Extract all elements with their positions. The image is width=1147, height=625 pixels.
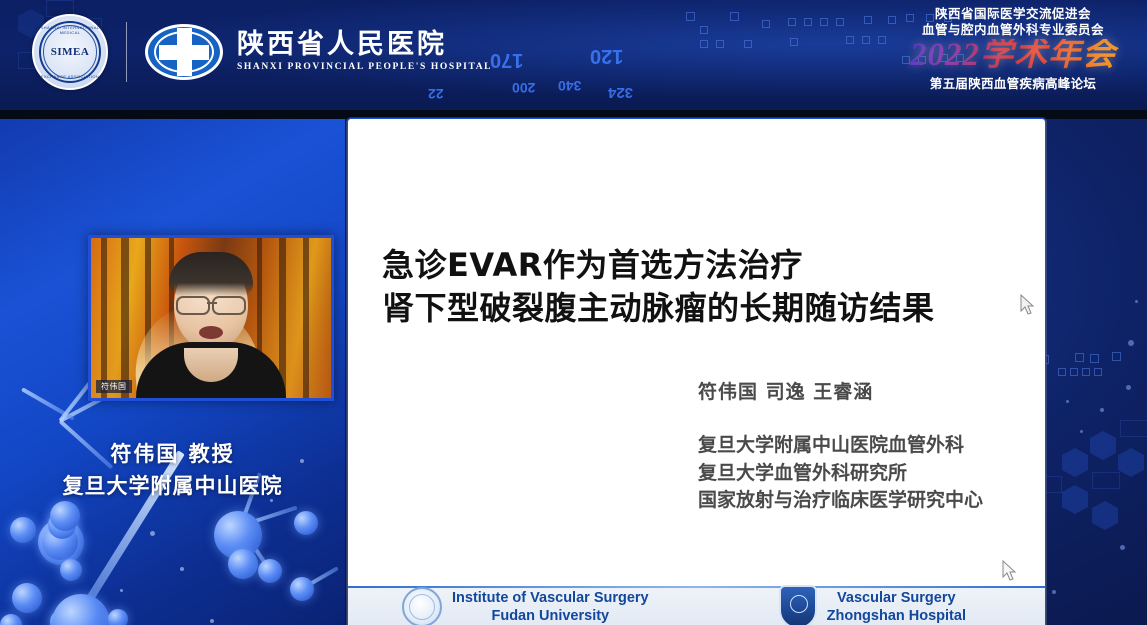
slide-affiliation-2: 国家放射与治疗临床医学研究中心 <box>698 487 983 515</box>
hospital-name-cn: 陕西省人民医院 <box>237 31 492 58</box>
screen-capture-root: SHAANXI INTERNATIONAL MEDICAL SIMEA EXCH… <box>0 0 1147 625</box>
header-logo-area: SHAANXI INTERNATIONAL MEDICAL SIMEA EXCH… <box>32 14 492 90</box>
footer-org-fudan: Institute of Vascular Surgery Fudan Univ… <box>402 587 649 625</box>
footer-org-zhongshan: Vascular Surgery Zhongshan Hospital <box>779 585 966 625</box>
footer-fudan-line2: Fudan University <box>452 607 649 625</box>
conference-branding: 陕西省国际医学交流促进会 血管与腔内血管外科专业委员会 2022学术年会 第五届… <box>893 6 1133 92</box>
slide-title-line1: 急诊EVAR作为首选方法治疗 <box>382 244 1022 287</box>
speaker-info: 符伟国 教授 复旦大学附属中山医院 <box>0 439 345 502</box>
slide-affiliations: 复旦大学附属中山医院血管外科 复旦大学血管外科研究所 国家放射与治疗临床医学研究… <box>698 432 983 515</box>
footer-org-fudan-text: Institute of Vascular Surgery Fudan Univ… <box>452 589 649 625</box>
slide-authors: 符伟国 司逸 王睿涵 <box>698 377 873 404</box>
simea-seal-icon: SHAANXI INTERNATIONAL MEDICAL SIMEA EXCH… <box>32 14 108 90</box>
footer-zhongshan-line2: Zhongshan Hospital <box>827 607 966 625</box>
slide-affiliation-0: 复旦大学附属中山医院血管外科 <box>698 432 983 460</box>
presentation-slide[interactable]: 急诊EVAR作为首选方法治疗 肾下型破裂腹主动脉瘤的长期随访结果 符伟国 司逸 … <box>347 118 1046 625</box>
footer-org-zhongshan-text: Vascular Surgery Zhongshan Hospital <box>827 589 966 625</box>
conference-subtitle: 第五届陕西血管疾病高峰论坛 <box>893 73 1133 92</box>
conference-year-title: 2022学术年会 <box>893 39 1133 72</box>
speaker-affiliation: 复旦大学附属中山医院 <box>0 471 345 503</box>
top-banner: SHAANXI INTERNATIONAL MEDICAL SIMEA EXCH… <box>0 0 1147 110</box>
zhongshan-shield-icon <box>779 585 817 625</box>
speaker-portrait <box>174 260 248 348</box>
hospital-name-block: 陕西省人民医院 SHANXI PROVINCIAL PEOPLE'S HOSPI… <box>237 31 492 73</box>
seal-arc-top: SHAANXI INTERNATIONAL MEDICAL <box>34 25 106 35</box>
conference-line2: 血管与腔内血管外科专业委员会 <box>893 22 1133 38</box>
fudan-seal-icon <box>402 587 442 625</box>
footer-fudan-line1: Institute of Vascular Surgery <box>452 589 649 607</box>
speaker-name: 符伟国 教授 <box>0 439 345 471</box>
hospital-cross-icon <box>145 24 223 80</box>
speaker-video-tile[interactable]: 符伟国 <box>88 235 334 401</box>
hospital-name-en: SHANXI PROVINCIAL PEOPLE'S HOSPITAL <box>237 63 492 73</box>
slide-footer: Institute of Vascular Surgery Fudan Univ… <box>348 588 1045 625</box>
seal-arc-bottom: EXCHANGE ASSOCIATION <box>34 74 106 79</box>
conference-line1: 陕西省国际医学交流促进会 <box>893 6 1133 22</box>
left-speaker-panel: 符伟国 符伟国 教授 复旦大学附属中山医院 截屏 <box>0 119 345 625</box>
footer-zhongshan-line1: Vascular Surgery <box>827 589 966 607</box>
slide-affiliation-1: 复旦大学血管外科研究所 <box>698 460 983 488</box>
logo-divider <box>126 22 127 82</box>
slide-title-line2: 肾下型破裂腹主动脉瘤的长期随访结果 <box>382 287 1022 330</box>
video-name-label: 符伟国 <box>96 380 132 393</box>
seal-text: SIMEA <box>51 46 90 58</box>
slide-title: 急诊EVAR作为首选方法治疗 肾下型破裂腹主动脉瘤的长期随访结果 <box>382 244 1022 329</box>
